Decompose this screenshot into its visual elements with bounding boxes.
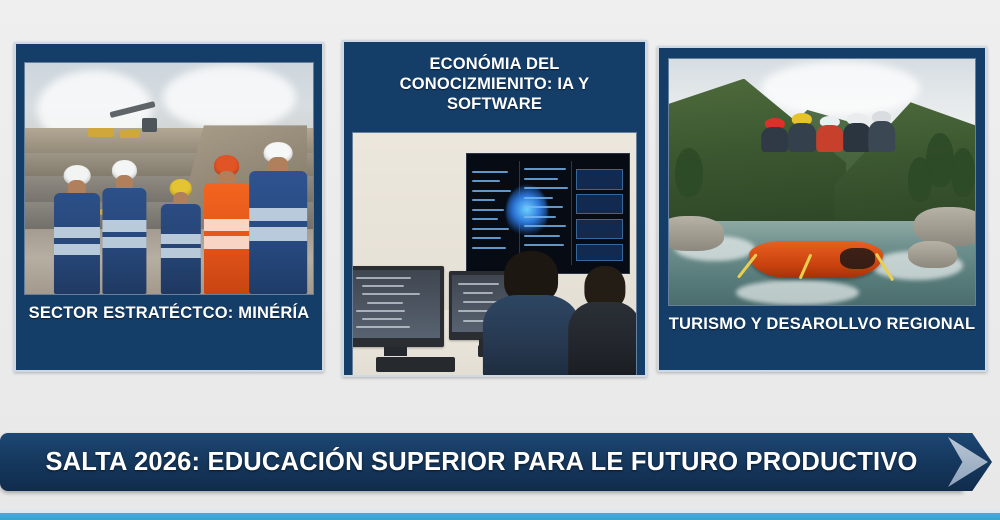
haul-truck-icon <box>88 128 114 137</box>
river-rock <box>908 241 957 268</box>
rafter <box>788 113 816 152</box>
card-caption-mineria: SECTOR ESTRATÉCTCO: MINÉRÍA <box>16 295 322 333</box>
computer-lab-coding-photo <box>352 132 637 377</box>
inflatable-raft <box>749 241 884 278</box>
river-rafting-photo <box>668 58 976 306</box>
card-mineria[interactable]: SECTOR ESTRATÉCTCO: MINÉRÍA <box>14 42 324 372</box>
mine-worker <box>54 165 100 294</box>
water-foam <box>736 280 858 305</box>
card-row: SECTOR ESTRATÉCTCO: MINÉRÍA ECONÓMIA DEL… <box>0 0 1000 400</box>
banner-bar: SALTA 2026: EDUCACIÓN SUPERIOR PARA LE F… <box>0 433 963 491</box>
river-rock <box>914 207 976 246</box>
mine-worker <box>103 160 146 294</box>
tree <box>675 148 703 197</box>
rafter <box>868 111 896 153</box>
mine-cloud <box>163 65 295 130</box>
rafter <box>761 118 789 152</box>
tree <box>908 157 932 201</box>
banner-title-text: SALTA 2026: EDUCACIÓN SUPERIOR PARA LE F… <box>45 448 917 477</box>
keyboard-left <box>376 357 455 372</box>
mine-worker <box>250 142 308 294</box>
monitor-left <box>352 266 444 347</box>
student-background <box>568 266 637 377</box>
title-banner: SALTA 2026: EDUCACIÓN SUPERIOR PARA LE F… <box>0 433 1000 495</box>
tree <box>951 148 975 197</box>
mine-worker <box>204 155 250 294</box>
open-pit-mine-workers-photo <box>24 62 314 295</box>
bottom-accent-strip <box>0 513 1000 520</box>
card-economia-conocimiento[interactable]: ECONÓMIA DEL CONOCIZMIENITO: IA Y SOFTWA… <box>342 40 647 377</box>
slide-canvas: SECTOR ESTRATÉCTCO: MINÉRÍA ECONÓMIA DEL… <box>0 0 1000 520</box>
haul-truck-icon <box>120 130 140 138</box>
student-foreground <box>483 251 579 377</box>
rafter <box>816 116 844 153</box>
network-globe-visual <box>506 185 548 240</box>
rafter <box>843 113 871 152</box>
card-title-economia: ECONÓMIA DEL CONOCIZMIENITO: IA Y SOFTWA… <box>344 42 645 124</box>
river-rock <box>668 216 724 250</box>
mine-worker <box>160 179 200 295</box>
card-caption-turismo: TURISMO Y DESAROLLVO REGIONAL <box>659 306 985 344</box>
cloud <box>761 61 920 115</box>
card-turismo[interactable]: TURISMO Y DESAROLLVO REGIONAL <box>657 46 987 372</box>
